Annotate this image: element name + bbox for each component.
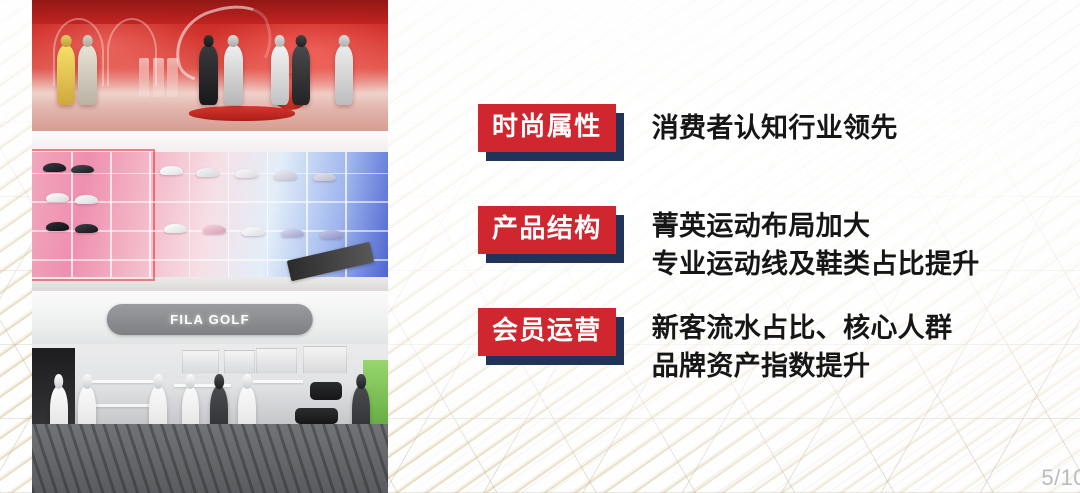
photo-fila-golf-store: FILA GOLF <box>32 291 388 493</box>
photo-stack: FILA GOLF <box>32 0 388 493</box>
arch-decor <box>107 18 157 86</box>
shelf-divider <box>189 152 191 277</box>
mannequin <box>78 45 97 105</box>
badge-body: 会员运营 <box>478 308 616 356</box>
page-number: 5/10 <box>1041 465 1080 491</box>
body-line: 菁英运动布局加大 <box>652 208 980 246</box>
shoe-item <box>242 227 265 236</box>
mannequin <box>224 45 243 105</box>
badge-body: 产品结构 <box>478 206 616 254</box>
shelf-divider <box>110 152 112 277</box>
shoe-item <box>235 169 258 178</box>
wall-display-box <box>182 350 220 374</box>
shoe-item <box>274 171 297 180</box>
slide-canvas: FILA GOLF <box>0 0 1080 493</box>
badge-product-structure: 产品结构 <box>478 206 616 254</box>
golf-bag <box>295 408 338 424</box>
shoe-item <box>281 229 304 238</box>
row-body-text: 消费者认知行业领先 <box>652 104 898 148</box>
badge-body: 时尚属性 <box>478 104 616 152</box>
shoe-item <box>75 195 98 204</box>
body-line: 品牌资产指数提升 <box>652 348 953 386</box>
body-line: 消费者认知行业领先 <box>652 110 898 148</box>
row-body-text: 新客流水占比、核心人群 品牌资产指数提升 <box>652 308 953 386</box>
shelf-divider <box>267 152 269 277</box>
fila-golf-sign-text: FILA GOLF <box>170 312 250 327</box>
golf-bag <box>310 382 342 400</box>
content-column: 时尚属性 消费者认知行业领先 产品结构 菁英运动布局加大 专业运动线及鞋类占比提… <box>478 0 1080 493</box>
content-row: 时尚属性 消费者认知行业领先 <box>478 104 898 152</box>
shoe-item <box>196 168 219 177</box>
photo-acrylic-shoe-wall <box>32 131 388 291</box>
shelf-divider <box>149 152 151 277</box>
mannequin <box>271 45 290 105</box>
shoe-item <box>164 224 187 233</box>
content-row: 产品结构 菁英运动布局加大 专业运动线及鞋类占比提升 <box>478 206 980 284</box>
shelf-divider <box>228 152 230 277</box>
floor-band <box>32 424 388 493</box>
mannequin <box>335 45 354 105</box>
display-rack <box>153 58 164 97</box>
shoe-item <box>71 165 94 174</box>
shoe-item <box>75 224 98 233</box>
badge-label: 会员运营 <box>492 317 602 346</box>
badge-fashion-attribute: 时尚属性 <box>478 104 616 152</box>
display-rack <box>167 58 178 97</box>
photo-red-concept-store <box>32 0 388 131</box>
apparel-rack <box>253 380 303 383</box>
content-row: 会员运营 新客流水占比、核心人群 品牌资产指数提升 <box>478 308 952 386</box>
wall-display-box <box>224 350 254 374</box>
mannequin <box>199 45 218 105</box>
mannequin <box>57 45 76 105</box>
wall-display-box <box>256 348 297 374</box>
wall-display-box <box>303 346 348 374</box>
shoe-item <box>46 193 69 202</box>
signage-tag <box>287 242 375 281</box>
shoe-item <box>46 222 69 231</box>
display-podium <box>189 106 296 120</box>
shoe-item <box>43 163 66 172</box>
body-line: 专业运动线及鞋类占比提升 <box>652 246 980 284</box>
shoe-item <box>313 173 336 182</box>
display-rack <box>139 58 150 97</box>
apparel-rack <box>89 380 160 383</box>
badge-label: 产品结构 <box>492 215 602 244</box>
badge-label: 时尚属性 <box>492 113 602 142</box>
shoe-item <box>160 166 183 175</box>
body-line: 新客流水占比、核心人群 <box>652 310 953 348</box>
mannequin <box>292 45 311 105</box>
fila-golf-sign: FILA GOLF <box>107 304 313 335</box>
row-body-text: 菁英运动布局加大 专业运动线及鞋类占比提升 <box>652 206 980 284</box>
shoe-item <box>320 230 343 239</box>
badge-member-operations: 会员运营 <box>478 308 616 356</box>
shoe-item <box>203 225 226 234</box>
